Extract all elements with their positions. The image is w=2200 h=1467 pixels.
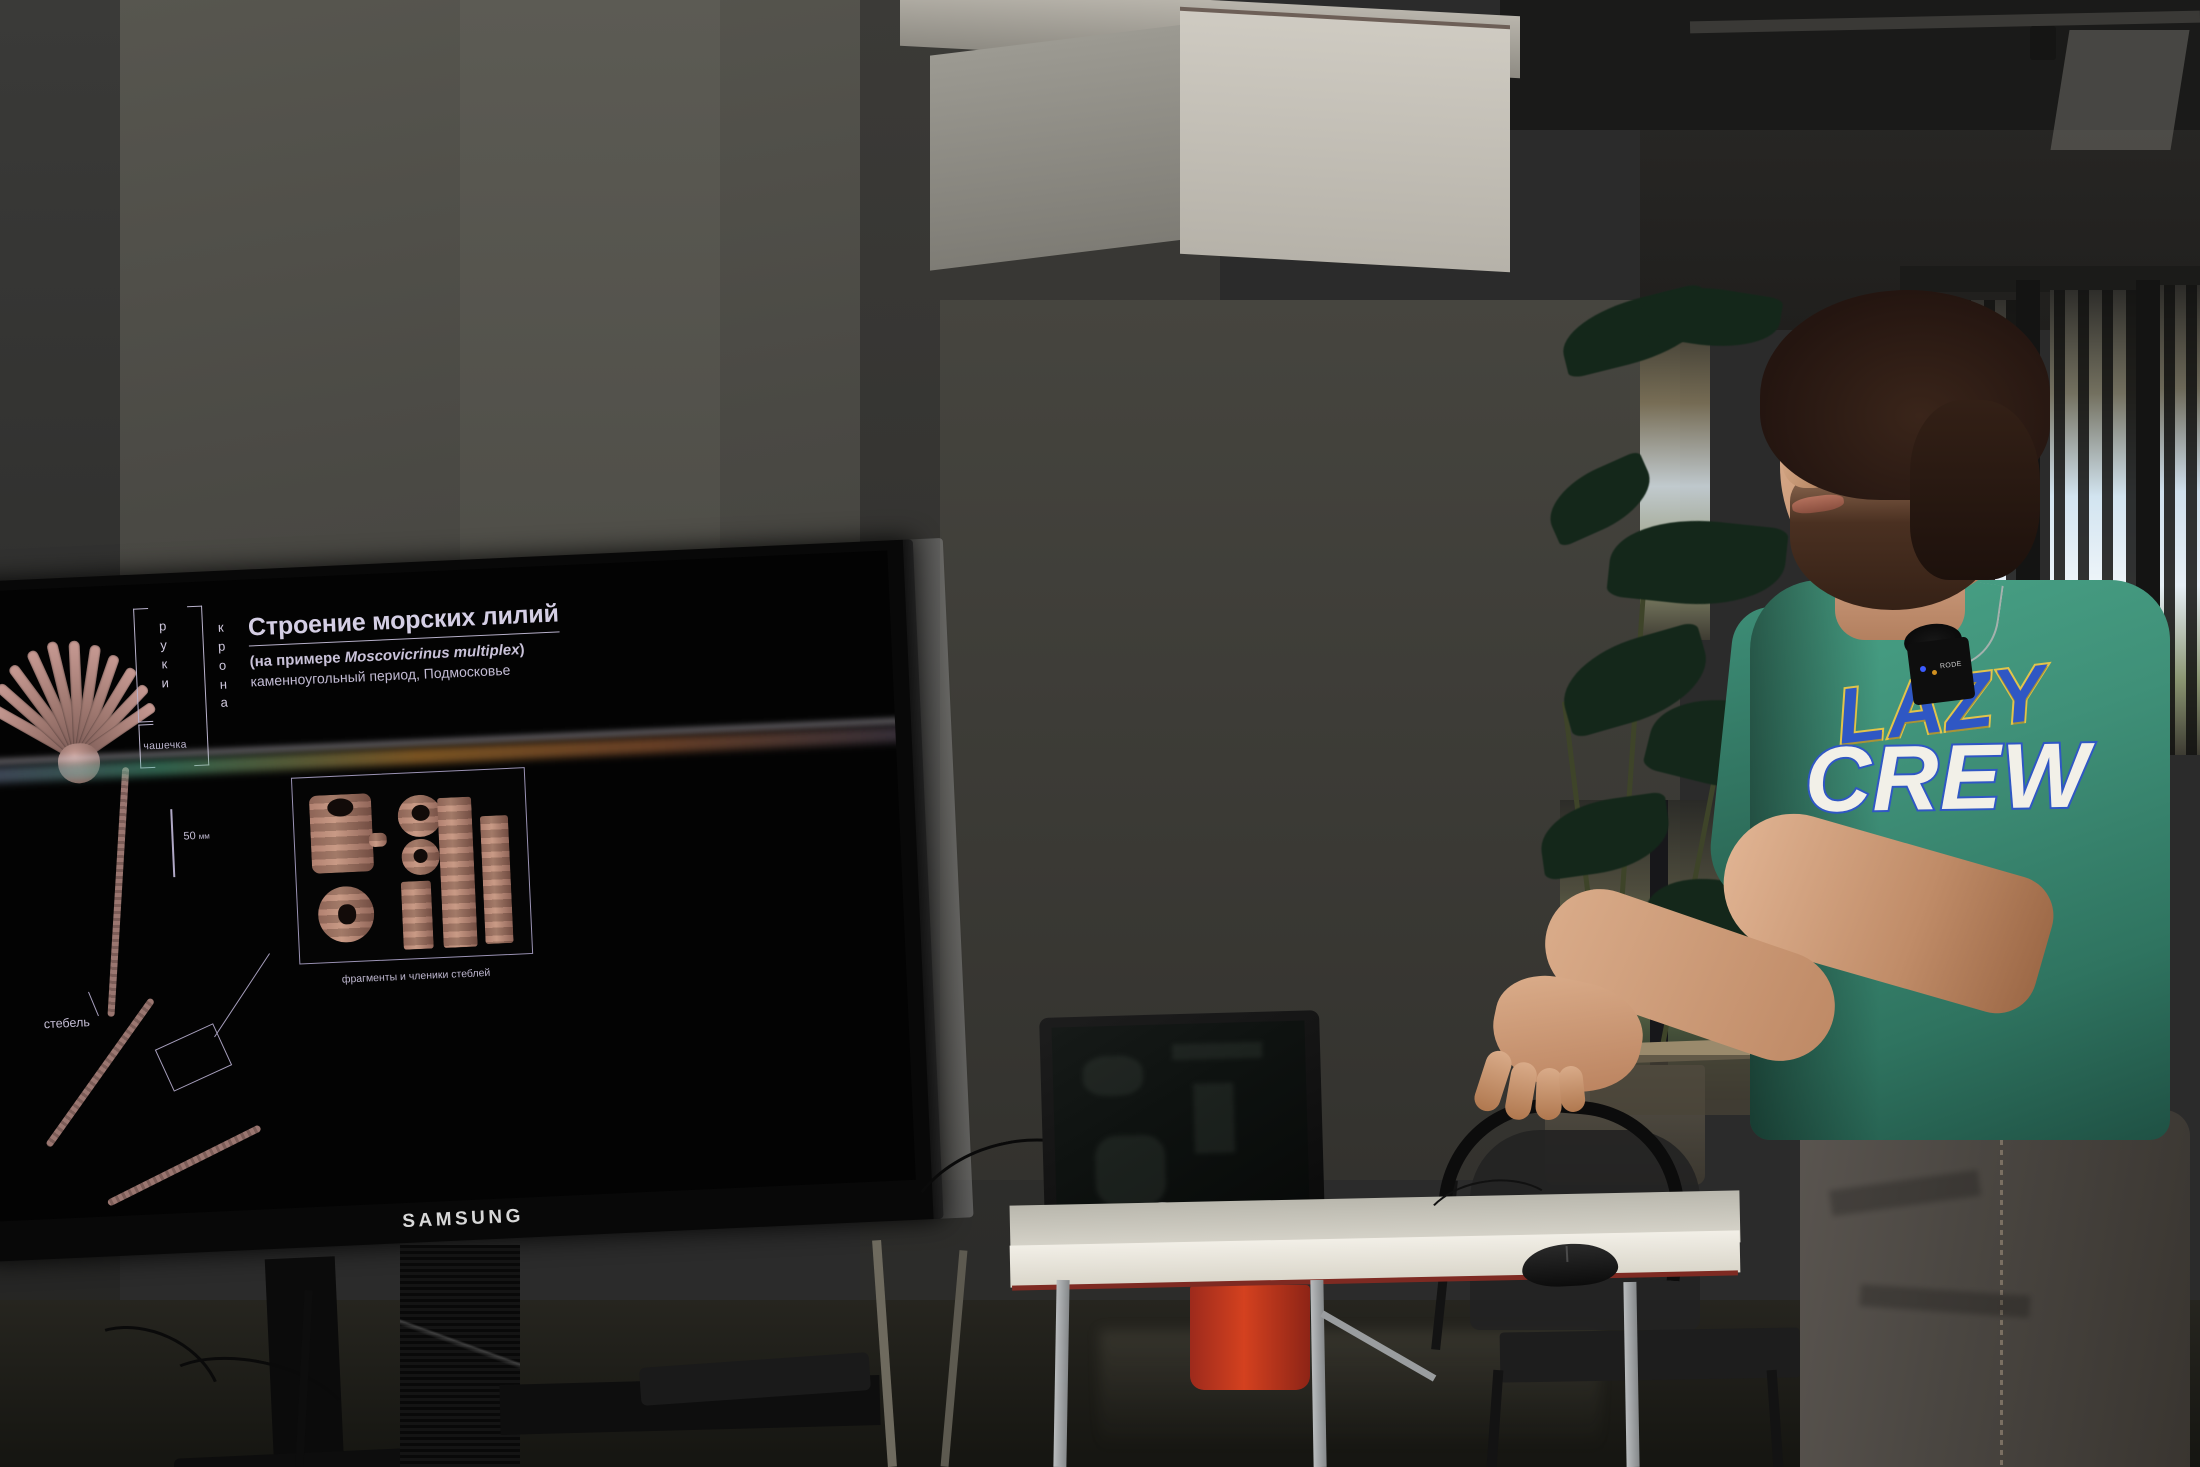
red-stool xyxy=(1190,1285,1310,1390)
fossil-photo-inset xyxy=(291,767,533,964)
label-arms: руки xyxy=(154,617,175,693)
subtitle-suffix: ) xyxy=(519,641,525,658)
crinoid-stem-upper xyxy=(107,767,129,1017)
soffit-front-face xyxy=(1180,9,1510,272)
bracket-crown xyxy=(187,606,209,767)
television[interactable]: руки чашечка крона 50 мм Строение морски… xyxy=(0,538,976,1322)
scale-bar xyxy=(170,809,175,877)
tv-screen[interactable]: руки чашечка крона 50 мм Строение морски… xyxy=(0,550,916,1221)
label-crown: крона xyxy=(212,618,234,713)
mic-led-blue xyxy=(1920,666,1926,672)
laptop-screen[interactable] xyxy=(1052,1021,1310,1210)
inset-caption: фрагменты и членики стеблей xyxy=(300,965,532,988)
shirt-text-crew: CREW xyxy=(1782,732,2113,824)
wall-column xyxy=(460,0,720,620)
ceiling-sheet xyxy=(2050,30,2189,150)
scale-label: 50 мм xyxy=(183,829,210,842)
photo-scene: руки чашечка крона 50 мм Строение морски… xyxy=(0,0,2200,1467)
crinoid-crown-illustration xyxy=(0,604,152,761)
label-stem: стебель xyxy=(44,1015,91,1031)
scale-value: 50 xyxy=(183,830,196,843)
zoom-callout-box xyxy=(155,1023,232,1091)
slide-title: Строение морских лилий xyxy=(247,599,559,646)
scale-unit: мм xyxy=(199,831,210,840)
presentation-slide: руки чашечка крона 50 мм Строение морски… xyxy=(0,550,916,1221)
crinoid-stem-lower xyxy=(107,1124,262,1206)
presenter: LAZY CREW RODE xyxy=(1620,280,2200,1467)
soffit-side-face xyxy=(930,24,1185,270)
stem-leader-line xyxy=(88,992,99,1016)
hair-side xyxy=(1910,400,2040,580)
subtitle-prefix: (на примере xyxy=(249,649,345,670)
ceiling-light-fitting xyxy=(2030,26,2056,60)
leader-line xyxy=(214,953,270,1037)
slide-title-block: Строение морских лилий (на примере Mosco… xyxy=(247,592,720,689)
mic-led-amber xyxy=(1932,670,1937,675)
trousers xyxy=(1800,1110,2190,1467)
lavalier-microphone xyxy=(1906,636,1975,705)
